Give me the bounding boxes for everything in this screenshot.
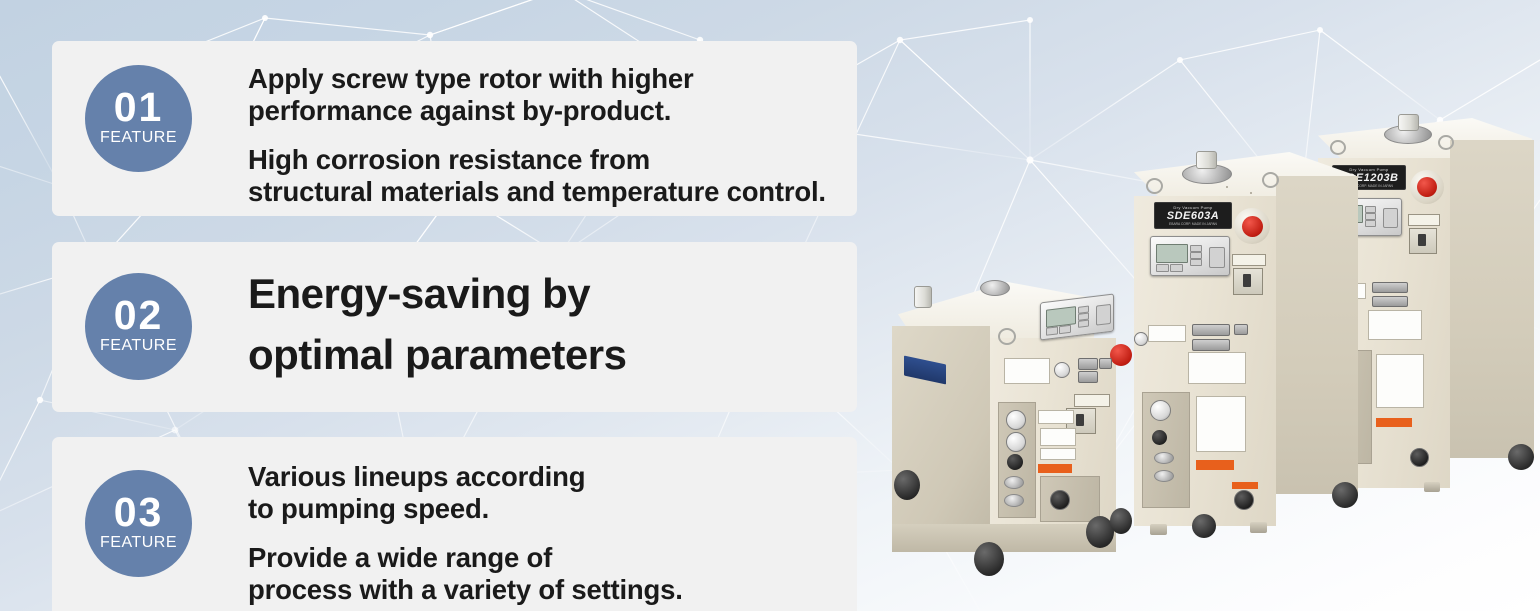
- machine-center-nameplate-foot: EBARA CORP. MADE IN JAPAN: [1169, 222, 1217, 226]
- machine-front-btn-2[interactable]: [1059, 325, 1071, 334]
- machine-center-caster-b: [1332, 482, 1358, 508]
- machine-right-breaker[interactable]: [1409, 228, 1437, 254]
- product-photo: Dry Vacuum Pump SDE1203B EBARA CORP. MAD…: [880, 0, 1540, 611]
- machine-center-dpad[interactable]: [1209, 247, 1225, 268]
- machine-front-fitting-a: [1004, 476, 1024, 489]
- machine-center-emergency-stop[interactable]: [1234, 208, 1270, 244]
- feature-badge-01-number: 01: [114, 89, 164, 127]
- machine-front-spec-label: [1004, 358, 1050, 384]
- feature-badge-01: 01 FEATURE: [85, 65, 192, 172]
- machine-center-btn-5[interactable]: [1190, 259, 1202, 266]
- machine-center-dsub-3: [1234, 324, 1248, 335]
- machine-right-dpad[interactable]: [1383, 208, 1398, 228]
- feature-badge-03-label: FEATURE: [100, 535, 177, 551]
- machine-front-emergency-stop[interactable]: [1110, 344, 1132, 366]
- feature-badge-02-label: FEATURE: [100, 338, 177, 354]
- machine-center-lift-eye-b: [1262, 172, 1279, 188]
- feature-badge-03: 03 FEATURE: [85, 470, 192, 577]
- feature-badge-03-number: 03: [114, 494, 164, 532]
- machine-center-power-connector: [1234, 490, 1254, 510]
- machine-front-caution-strip: [1038, 464, 1072, 473]
- machine-front-caster-d: [1110, 508, 1132, 534]
- machine-center-spec-label: [1148, 325, 1186, 342]
- machine-right-dsub-1: [1372, 282, 1408, 293]
- feature-card-01-paragraph-2: High corrosion resistance from structura…: [248, 144, 847, 209]
- machine-front-dpad[interactable]: [1096, 304, 1111, 326]
- machine-front-caster-a: [894, 470, 920, 500]
- machine-center-btn-2[interactable]: [1170, 264, 1183, 272]
- machine-front-valve-knob: [1007, 454, 1023, 470]
- machine-front-base: [892, 524, 1116, 552]
- machine-center-nameplate-sub: Dry Vacuum Pump: [1173, 205, 1212, 210]
- machine-right-power-connector: [1410, 448, 1429, 467]
- machine-front-control-panel[interactable]: [1040, 293, 1114, 340]
- machine-center-foot-a: [1150, 524, 1167, 535]
- machine-front-data-label-b: [1040, 428, 1076, 446]
- machine-right-btn-3[interactable]: [1365, 206, 1376, 213]
- machine-front-lift-eye: [998, 328, 1016, 345]
- machine-front: [888, 276, 1144, 588]
- machine-front-warning-label: [1074, 394, 1110, 407]
- machine-center-lift-eye-a: [1146, 178, 1163, 194]
- feature-card-03-text: Various lineups according to pumping spe…: [248, 461, 847, 607]
- machine-center-caster-a: [1192, 514, 1216, 538]
- feature-card-01: 01 FEATURE Apply screw type rotor with h…: [52, 41, 857, 216]
- machine-right-dsub-2: [1372, 296, 1408, 307]
- machine-center-pressure-gauge: [1150, 400, 1171, 421]
- machine-right-side: [1450, 140, 1534, 458]
- feature-card-03-paragraph-2: Provide a wide range of process with a v…: [248, 542, 847, 607]
- machine-right-foot-b: [1424, 482, 1440, 492]
- machine-center-data-label: [1188, 352, 1246, 384]
- feature-card-02: 02 FEATURE Energy-saving by optimal para…: [52, 242, 857, 412]
- machine-right-data-label: [1368, 310, 1422, 340]
- feature-card-03: 03 FEATURE Various lineups according to …: [52, 437, 857, 611]
- machine-front-exhaust-tube: [914, 286, 932, 308]
- machine-center-breaker[interactable]: [1233, 268, 1263, 295]
- machine-front-pressure-gauge-a: [1006, 410, 1026, 430]
- machine-center-nameplate: Dry Vacuum Pump SDE603A EBARA CORP. MADE…: [1154, 202, 1232, 229]
- machine-front-lcd: [1046, 306, 1076, 328]
- machine-center-dsub-1: [1192, 324, 1230, 336]
- machine-front-dsub-1: [1078, 358, 1098, 370]
- feature-card-02-paragraph-1: Energy-saving by optimal parameters: [248, 264, 847, 386]
- machine-center-btn-4[interactable]: [1190, 252, 1202, 259]
- feature-banner: Dry Vacuum Pump SDE1203B EBARA CORP. MAD…: [0, 0, 1540, 611]
- machine-front-dsub-3: [1099, 358, 1112, 369]
- feature-badge-02: 02 FEATURE: [85, 273, 192, 380]
- machine-center-diagram-label: [1196, 396, 1246, 452]
- machine-right-caution-strip: [1376, 418, 1412, 427]
- machine-front-connector-recess: [1040, 476, 1100, 522]
- machine-front-dsub-2: [1078, 371, 1098, 383]
- feature-card-02-text: Energy-saving by optimal parameters: [248, 264, 847, 386]
- machine-center-caution-strip: [1196, 460, 1234, 470]
- machine-center-foot-b: [1250, 522, 1267, 533]
- machine-front-power-connector: [1050, 490, 1070, 510]
- feature-badge-02-number: 02: [114, 297, 164, 335]
- machine-center-nameplate-model: SDE603A: [1167, 210, 1219, 222]
- machine-right-lift-eye-b: [1438, 135, 1454, 150]
- machine-center-side: [1276, 176, 1358, 494]
- feature-badge-01-label: FEATURE: [100, 130, 177, 146]
- machine-right-inlet-tube: [1398, 114, 1419, 131]
- machine-center-fitting-a: [1154, 452, 1174, 464]
- machine-center-dsub-2: [1192, 339, 1230, 351]
- machine-front-data-label-a: [1038, 410, 1074, 424]
- machine-center-connector-tag: [1232, 482, 1258, 489]
- machine-right-warning-label: [1408, 214, 1440, 226]
- feature-card-03-paragraph-1: Various lineups according to pumping spe…: [248, 461, 847, 526]
- machine-right-caster: [1508, 444, 1534, 470]
- machine-front-data-label-c: [1040, 448, 1076, 460]
- feature-card-01-text: Apply screw type rotor with higher perfo…: [248, 63, 847, 209]
- machine-center-inlet-tube: [1196, 151, 1217, 169]
- machine-front-btn-1[interactable]: [1046, 326, 1058, 335]
- machine-center-btn-1[interactable]: [1156, 264, 1169, 272]
- machine-center-lcd: [1156, 244, 1188, 263]
- feature-card-01-paragraph-1: Apply screw type rotor with higher perfo…: [248, 63, 847, 128]
- machine-front-round-seal: [1054, 362, 1070, 378]
- machine-center-warning-label: [1232, 254, 1266, 266]
- machine-center-btn-3[interactable]: [1190, 245, 1202, 252]
- machine-front-fitting-b: [1004, 494, 1024, 507]
- machine-center-control-panel[interactable]: [1150, 236, 1230, 276]
- machine-center-valve-knob: [1152, 430, 1167, 445]
- machine-right-btn-5[interactable]: [1365, 220, 1376, 227]
- machine-right-diagram-label: [1376, 354, 1424, 408]
- machine-right-emergency-stop[interactable]: [1410, 170, 1444, 204]
- machine-center-fitting-b: [1154, 470, 1174, 482]
- machine-front-pressure-gauge-b: [1006, 432, 1026, 452]
- machine-front-caster-b: [974, 542, 1004, 576]
- machine-right-btn-4[interactable]: [1365, 213, 1376, 220]
- machine-front-flange: [980, 280, 1010, 296]
- machine-front-btn-5[interactable]: [1078, 320, 1089, 328]
- machine-center: Dry Vacuum Pump SDE603A EBARA CORP. MADE…: [1130, 152, 1366, 538]
